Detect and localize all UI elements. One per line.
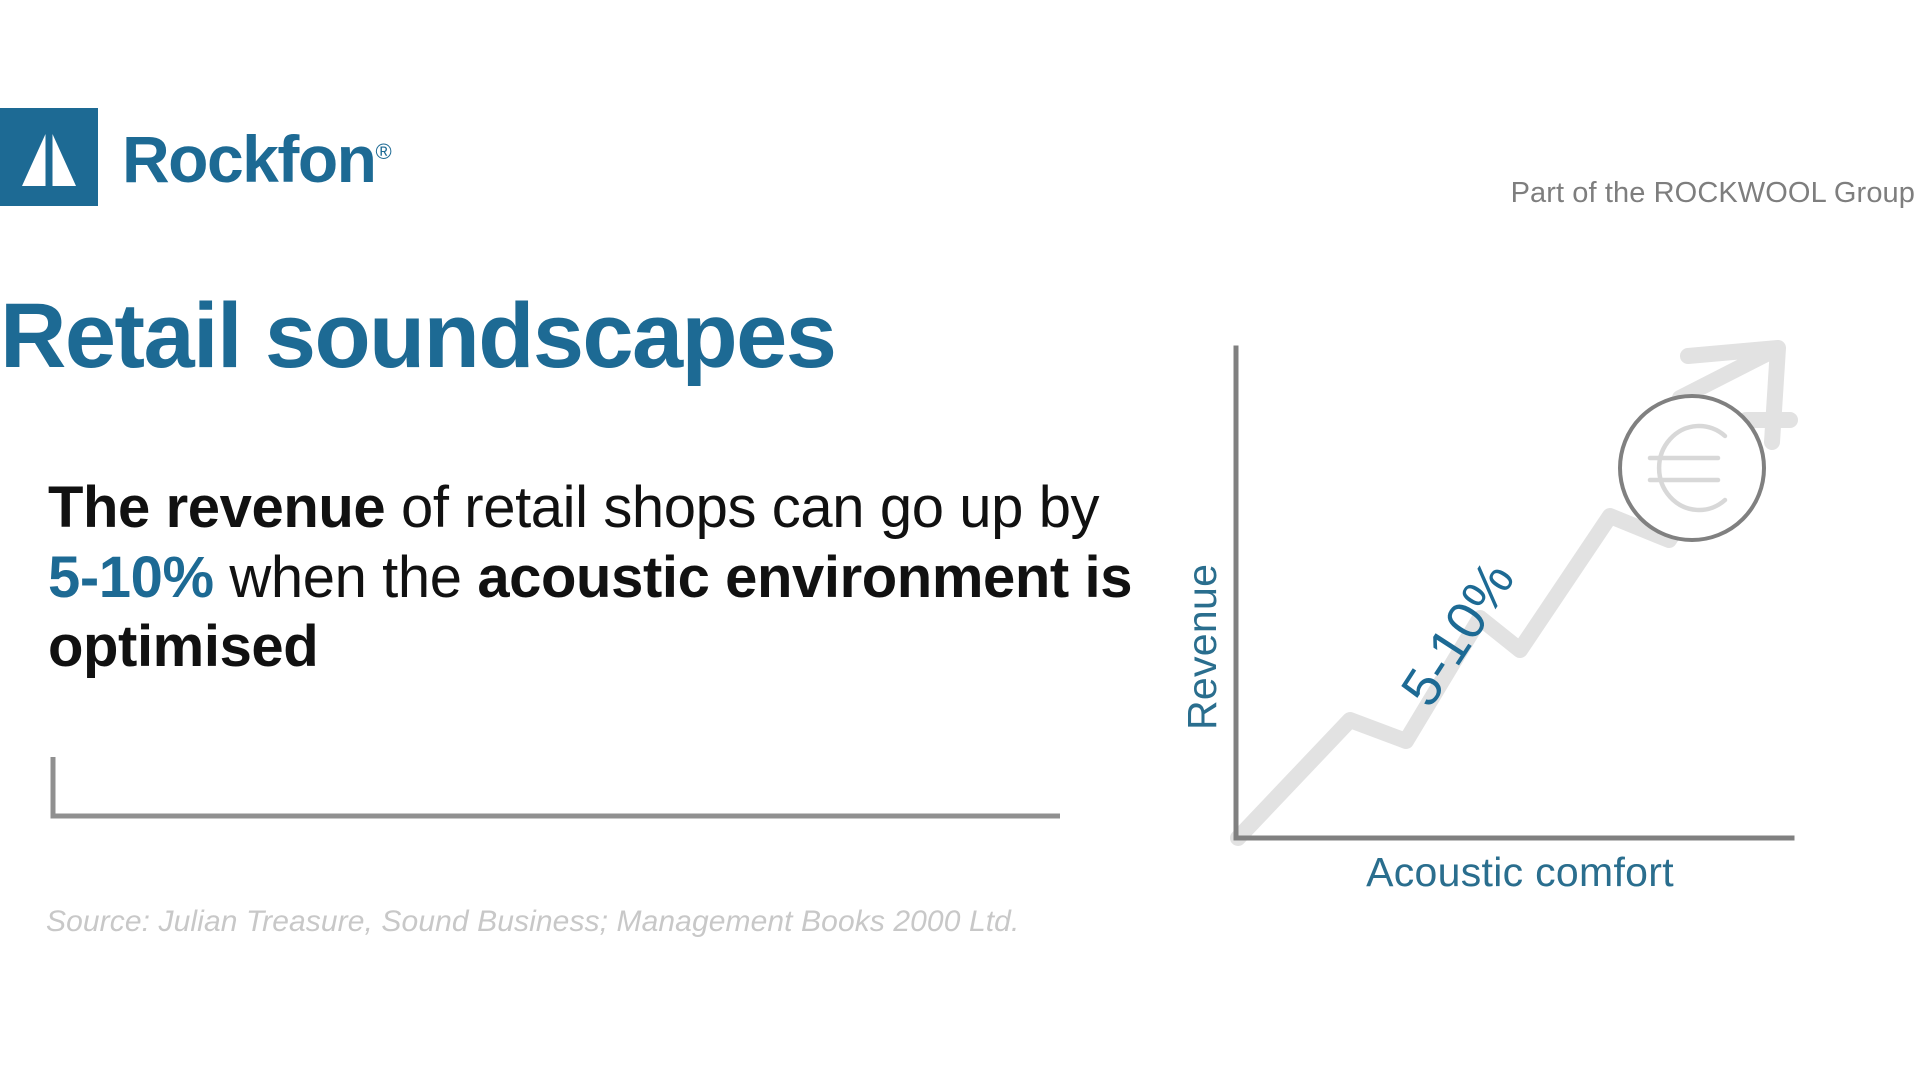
rockwool-group-tagline: Part of the ROCKWOOL Group bbox=[1511, 177, 1915, 210]
statement-accent-percentage: 5-10% bbox=[48, 545, 214, 610]
euro-coin-icon bbox=[1620, 396, 1764, 540]
revenue-vs-acoustic-comfort-chart: 5-10% Revenue Acoustic comfort bbox=[1180, 330, 1800, 890]
registered-trademark-icon: ® bbox=[376, 139, 392, 164]
rockfon-wordmark: Rockfon® bbox=[122, 126, 392, 192]
rockfon-wordmark-text: Rockfon bbox=[122, 122, 376, 196]
decorative-corner-rule bbox=[50, 757, 1060, 819]
rockfon-logo-mark-icon bbox=[0, 108, 98, 206]
y-axis-title: Revenue bbox=[1180, 564, 1225, 730]
statement-part-2: of retail shops can go up by bbox=[385, 475, 1099, 540]
rockfon-logo[interactable]: Rockfon® bbox=[0, 108, 392, 206]
source-citation: Source: Julian Treasure, Sound Business;… bbox=[46, 905, 1019, 939]
x-axis-title: Acoustic comfort bbox=[1366, 849, 1674, 890]
page-title: Retail soundscapes bbox=[0, 290, 835, 382]
slide-canvas: Rockfon® Part of the ROCKWOOL Group Reta… bbox=[0, 0, 1920, 1079]
statement-part-4: when the bbox=[214, 545, 478, 610]
statement-bold-lead: The revenue bbox=[48, 475, 385, 540]
statement-text: The revenue of retail shops can go up by… bbox=[48, 473, 1158, 682]
